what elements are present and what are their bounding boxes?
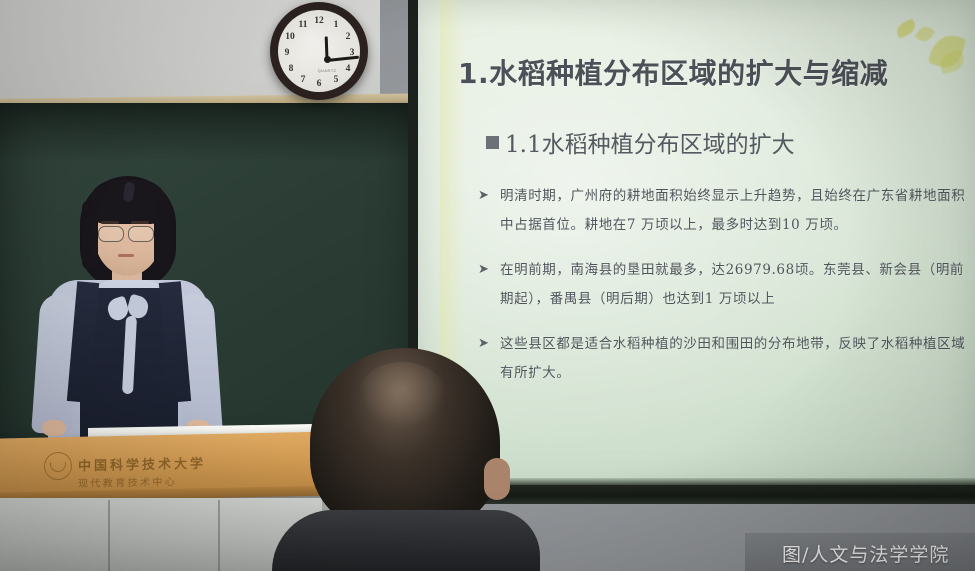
presenter-hand-left — [42, 420, 66, 436]
presenter-bow-tie — [108, 294, 150, 328]
clock-brand-label: QUARTZ — [308, 68, 346, 73]
clock-numeral: 9 — [281, 48, 293, 58]
clock-numeral: 12 — [313, 16, 325, 26]
slide-subtitle-text: 1.1水稻种植分布区域的扩大 — [505, 125, 795, 159]
arrow-bullet-icon: ➤ — [478, 182, 492, 240]
clock-minute-hand — [327, 55, 359, 61]
clock-numeral: 8 — [285, 64, 297, 74]
clock-face: 12 1 2 3 4 5 6 7 8 9 10 11 QUARTZ — [278, 10, 360, 92]
clock-numeral: 5 — [330, 75, 342, 85]
clock-numeral: 6 — [313, 79, 325, 89]
audience-scalp — [358, 362, 446, 428]
clock-center-pin — [324, 56, 331, 63]
clock-numeral: 10 — [284, 32, 296, 42]
glasses-lens-left-icon — [98, 226, 124, 242]
presenter — [28, 176, 224, 438]
clock-numeral: 7 — [297, 75, 309, 85]
podium-panel-seam — [218, 500, 220, 571]
slide-bullet-list: ➤ 明清时期，广州府的耕地面积始终显示上升趋势，且始终在广东省耕地面积中占据首位… — [478, 182, 975, 404]
podium-center-label: 现代教育技术中心 — [78, 473, 177, 490]
audience-ear — [484, 458, 510, 500]
presenter-eyebrow-right — [131, 221, 149, 224]
slide-bullet-item: ➤ 这些县区都是适合水稻种植的沙田和围田的分布地带，反映了水稻种植区域有所扩大。 — [478, 330, 975, 388]
podium-panel-seam — [108, 500, 110, 571]
presenter-hair-side-left — [82, 200, 98, 270]
slide-bullet-text: 明清时期，广州府的耕地面积始终显示上升趋势，且始终在广东省耕地面积中占据首位。耕… — [500, 182, 975, 240]
slide-subtitle: 1.1水稻种植分布区域的扩大 — [486, 125, 795, 159]
photo-credit-caption: 图/人文与法学学院 — [782, 540, 949, 567]
presenter-hair-side-right — [154, 200, 170, 270]
wall-clock: 12 1 2 3 4 5 6 7 8 9 10 11 QUARTZ — [270, 2, 368, 100]
audience-member — [272, 348, 540, 571]
podium-university-label: 中国科学技术大学 — [78, 453, 206, 475]
chalkboard-shadow — [0, 103, 420, 163]
leaf-butterfly-icon — [888, 12, 975, 82]
slide-bullet-text: 这些县区都是适合水稻种植的沙田和围田的分布地带，反映了水稻种植区域有所扩大。 — [500, 330, 975, 388]
lecture-photo: 12 1 2 3 4 5 6 7 8 9 10 11 QUARTZ — [0, 0, 975, 571]
glasses-lens-right-icon — [128, 226, 154, 242]
slide-bullet-item: ➤ 明清时期，广州府的耕地面积始终显示上升趋势，且始终在广东省耕地面积中占据首位… — [478, 182, 975, 240]
slide-title: 1.水稻种植分布区域的扩大与缩减 — [458, 52, 888, 92]
square-bullet-icon — [486, 136, 499, 149]
clock-numeral: 11 — [297, 20, 309, 30]
clock-numeral: 2 — [342, 32, 354, 42]
audience-shoulders — [272, 510, 540, 571]
clock-numeral: 1 — [330, 20, 342, 30]
arrow-bullet-icon: ➤ — [478, 256, 492, 314]
presenter-eyebrow-left — [101, 221, 119, 224]
slide-bullet-item: ➤ 在明前期，南海县的垦田就最多，达26979.68顷。东莞县、新会县（明前期起… — [478, 256, 975, 314]
presenter-mouth — [118, 254, 134, 257]
slide-bullet-text: 在明前期，南海县的垦田就最多，达26979.68顷。东莞县、新会县（明前期起），… — [500, 256, 975, 314]
